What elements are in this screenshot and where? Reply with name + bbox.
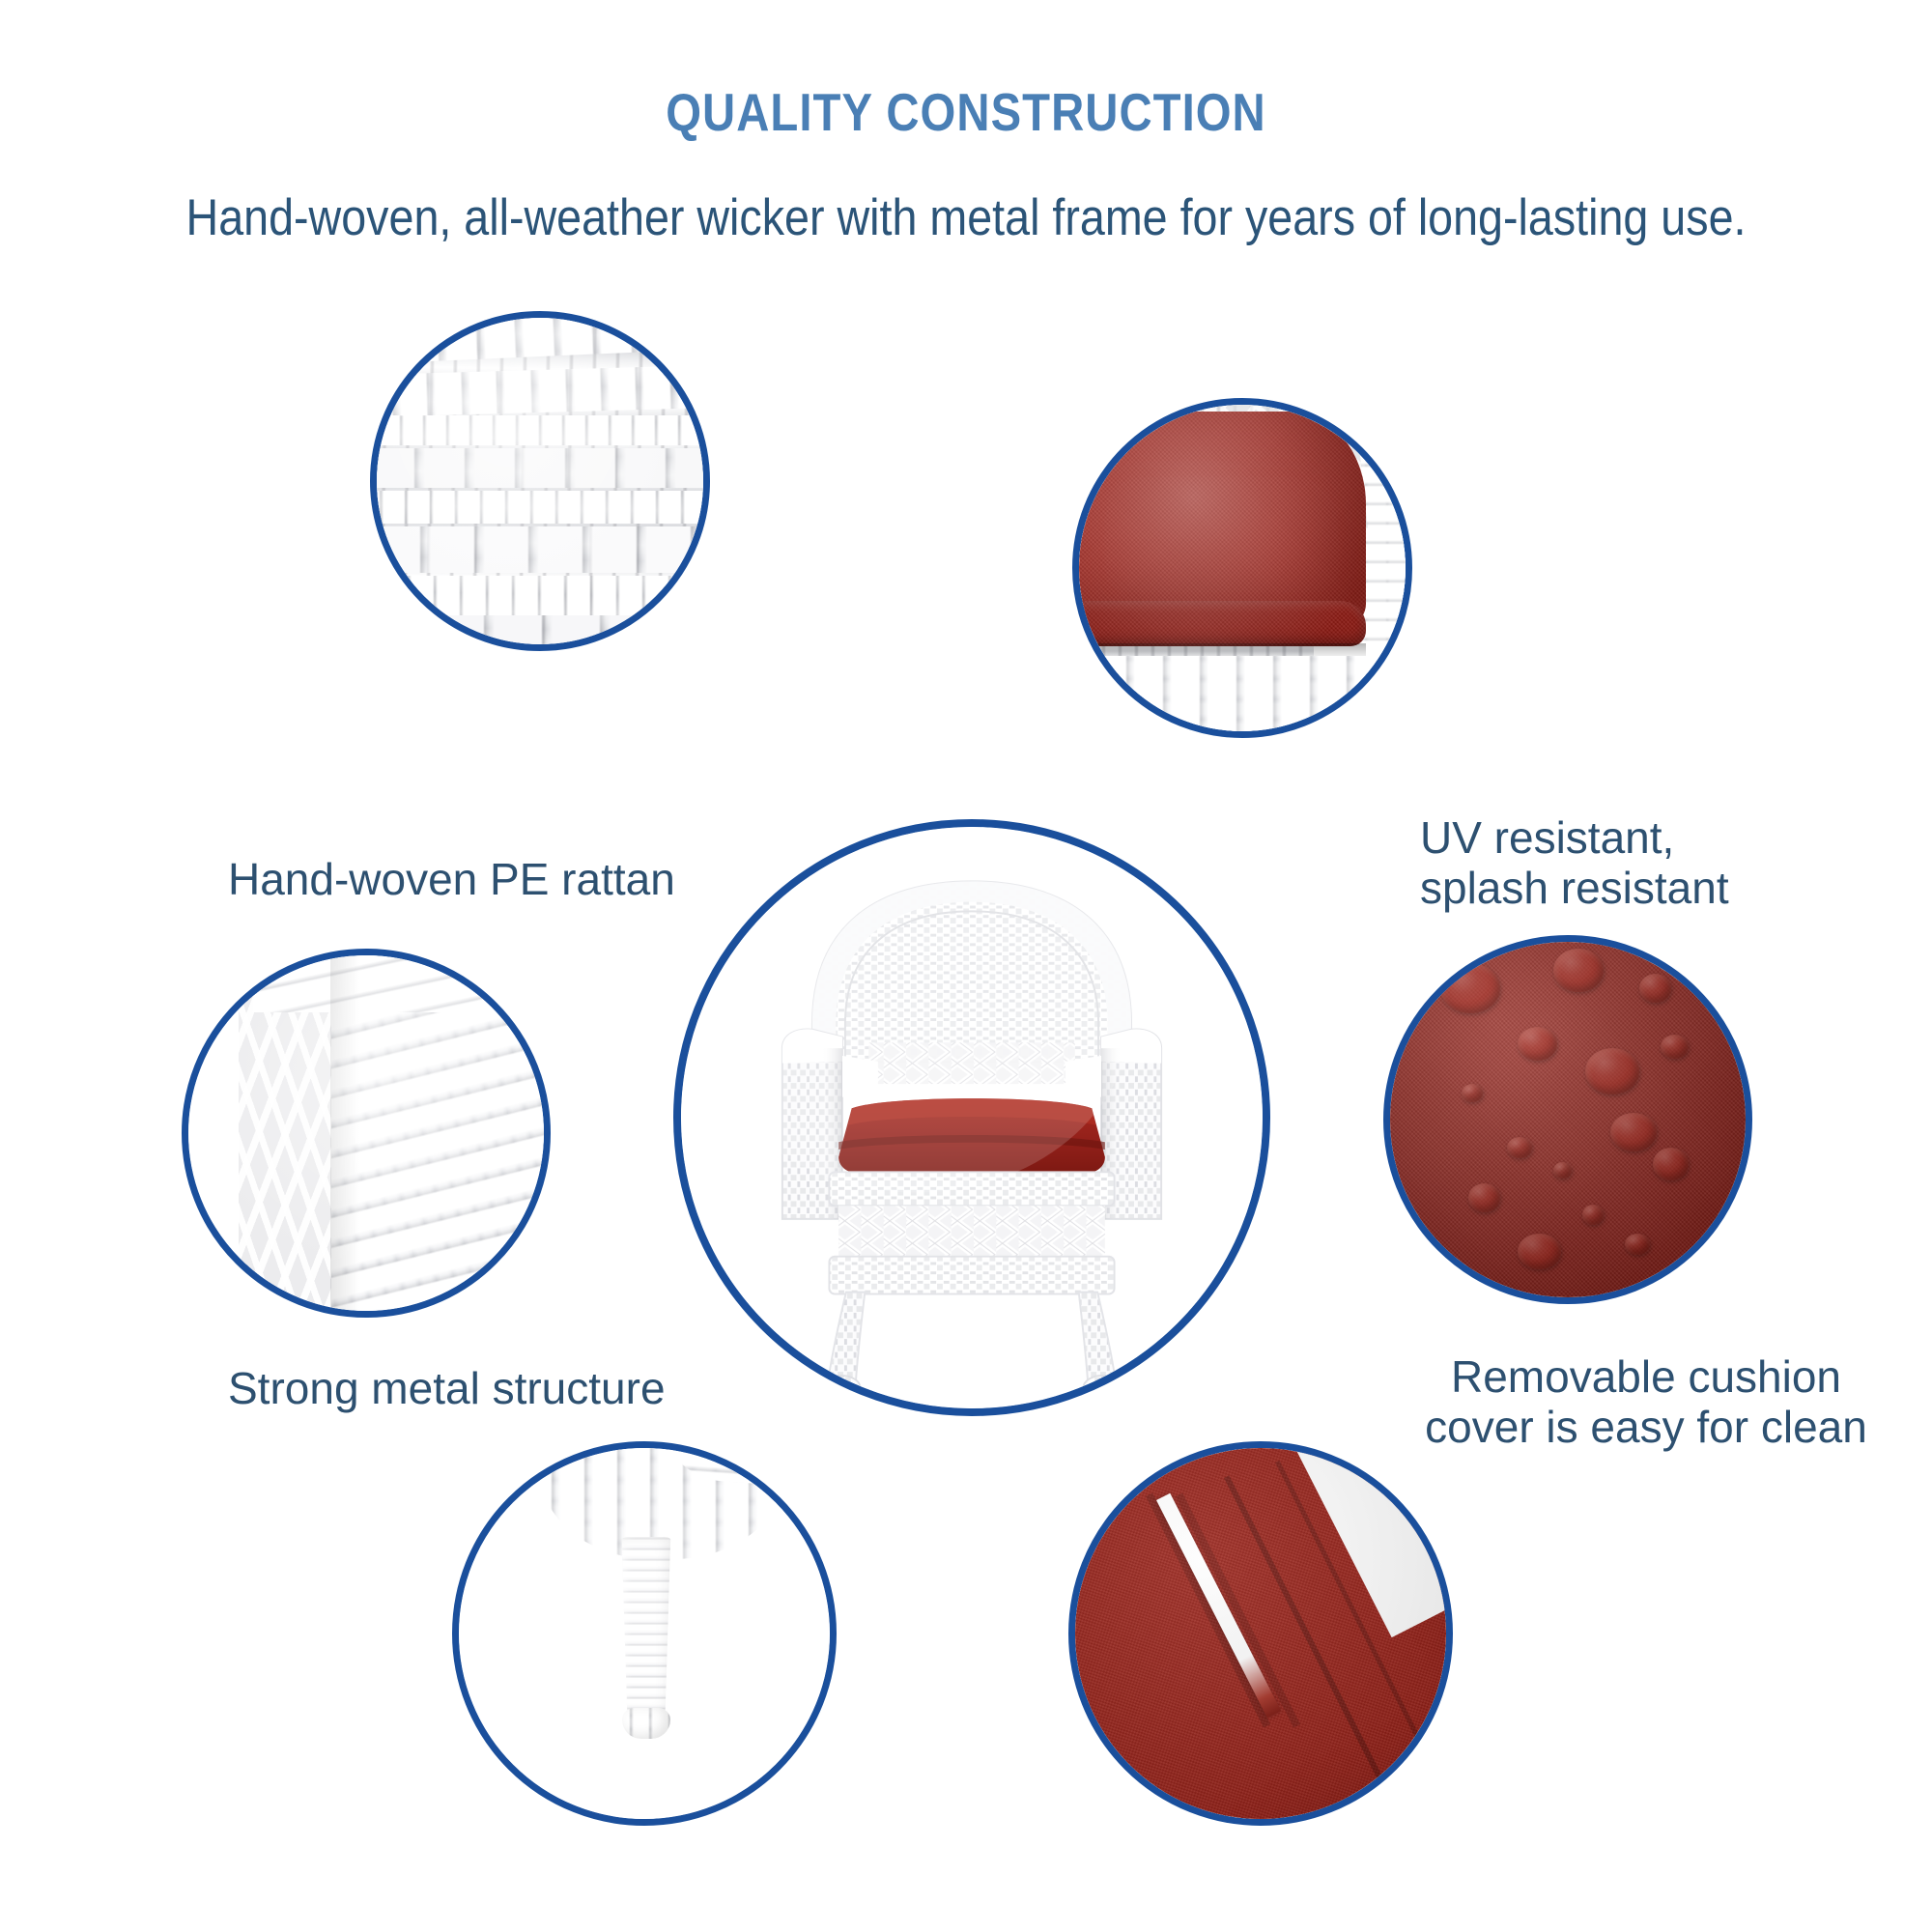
feature-image-strong-metal-structure: [182, 949, 551, 1318]
water-droplets-photo: [1390, 942, 1746, 1297]
caption-removable-cushion-cover: Removable cushion cover is easy for clea…: [1356, 1352, 1932, 1453]
page-title: QUALITY CONSTRUCTION: [135, 0, 1797, 141]
page-subtitle: Hand-woven, all-weather wicker with meta…: [116, 141, 1816, 245]
feature-image-hand-woven-pe-rattan: [370, 311, 710, 651]
wicker-armchair-illustration: [681, 827, 1263, 1408]
cushion-zipper-photo: [1075, 1448, 1446, 1819]
feature-image-chair-leg-detail: [452, 1441, 837, 1826]
feature-image-removable-cushion-cover: [1383, 935, 1752, 1304]
feature-image-cushion-zipper-detail: [1068, 1441, 1453, 1826]
header: QUALITY CONSTRUCTION Hand-woven, all-wea…: [0, 0, 1932, 244]
infographic-root: QUALITY CONSTRUCTION Hand-woven, all-wea…: [0, 0, 1932, 1932]
chair-leg-photo: [459, 1448, 830, 1819]
feature-image-uv-splash-resistant: [1072, 398, 1412, 738]
rattan-weave-photo: [377, 318, 703, 644]
full-chair-photo: [681, 827, 1263, 1408]
metal-frame-corner-photo: [188, 955, 544, 1311]
feature-image-full-product-chair: [673, 819, 1270, 1416]
cushion-on-chair-photo: [1079, 405, 1406, 731]
caption-uv-splash-resistant: UV resistant, splash resistant: [1420, 813, 1922, 914]
